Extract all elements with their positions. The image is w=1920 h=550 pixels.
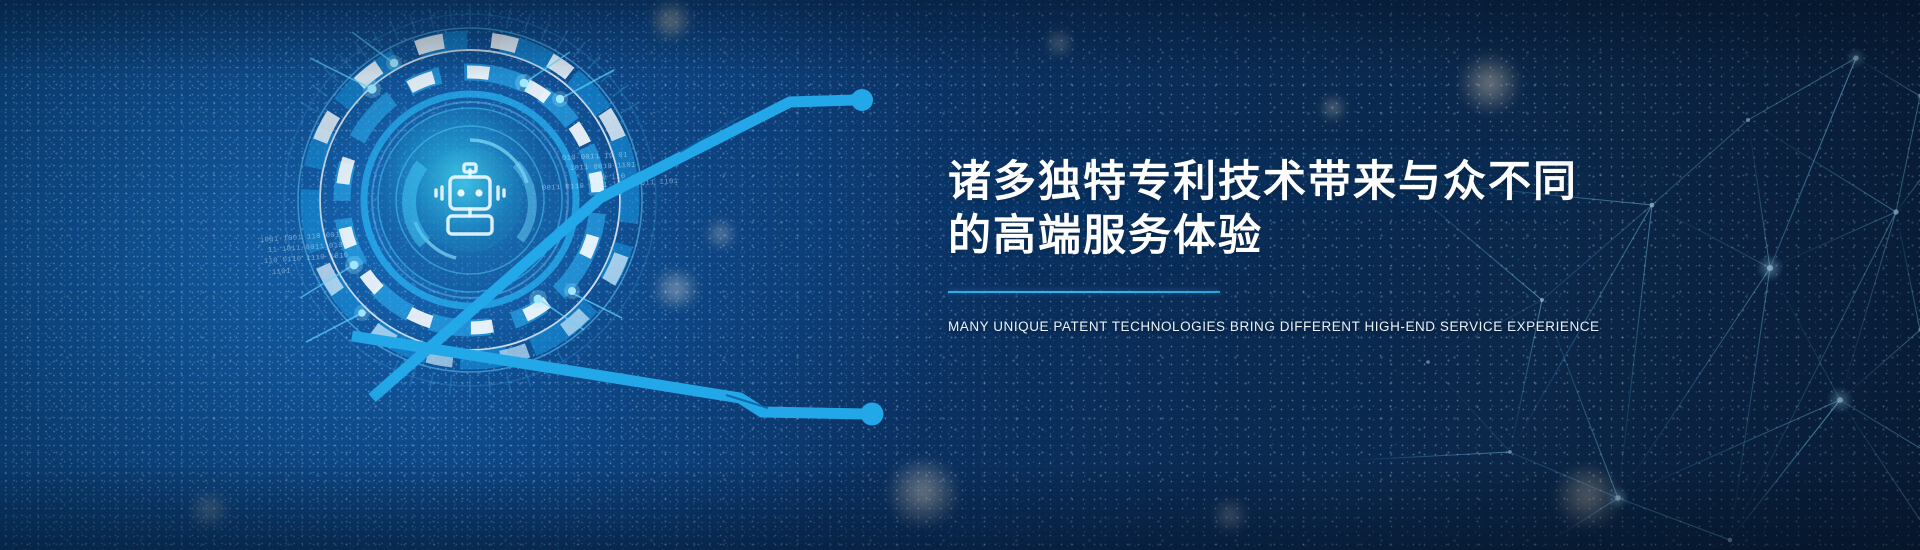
connector-lower-line (352, 336, 866, 414)
connector-upper-line (372, 100, 855, 398)
bokeh-dot (1548, 466, 1628, 528)
headline-line-1: 诸多独特专利技术带来与众不同 (948, 155, 1648, 209)
banner-text-block: 诸多独特专利技术带来与众不同 的高端服务体验 MANY UNIQUE PATEN… (948, 155, 1648, 334)
banner-subtitle: MANY UNIQUE PATENT TECHNOLOGIES BRING DI… (948, 319, 1648, 334)
technology-banner: 1001 1001 110 0011 11 1011 0011 0101 110… (0, 0, 1920, 550)
bokeh-dot (1044, 30, 1074, 56)
bokeh-dot (648, 271, 704, 307)
svg-text:1101: 1101 (272, 268, 291, 277)
bokeh-dot (648, 0, 694, 40)
bokeh-dot (1455, 52, 1525, 114)
svg-text:0011 0110 1101 1011 0011 1101: 0011 0110 1101 1011 0011 1101 (542, 178, 679, 193)
robot-icon-shape (436, 164, 504, 234)
svg-text:1011 0010 1101: 1011 0010 1101 (570, 162, 636, 173)
page-title: 诸多独特专利技术带来与众不同 的高端服务体验 (948, 155, 1648, 263)
svg-text:0110 110: 0110 110 (588, 173, 626, 183)
connector-lower-dot (861, 403, 884, 426)
bokeh-dot (1210, 500, 1250, 532)
headline-line-2: 的高端服务体验 (948, 209, 1648, 263)
binary-text-left: 1001 1001 110 0011 11 1011 0011 0101 110… (260, 231, 349, 277)
hud-circle-graphic: 1001 1001 110 0011 11 1011 0011 0101 110… (270, 0, 670, 400)
bokeh-dot (880, 460, 966, 526)
bokeh-dot (186, 492, 232, 528)
svg-text:1001 1001 110 0011: 1001 1001 110 0011 (260, 231, 345, 245)
connector-upper-dot (851, 89, 873, 111)
svg-text:11 1011 0011 0101: 11 1011 0011 0101 (268, 241, 348, 255)
svg-text:110 0110 1110 1010: 110 0110 1110 1010 (264, 252, 349, 266)
title-divider (948, 291, 1220, 293)
svg-text:010 0011 10 01: 010 0011 10 01 (562, 152, 628, 163)
bokeh-dot (704, 219, 738, 249)
hud-node-streaks (300, 32, 622, 342)
bokeh-dot (1320, 96, 1346, 120)
binary-text-right: 010 0011 10 01 1011 0010 1101 0110 110 0… (542, 152, 679, 193)
